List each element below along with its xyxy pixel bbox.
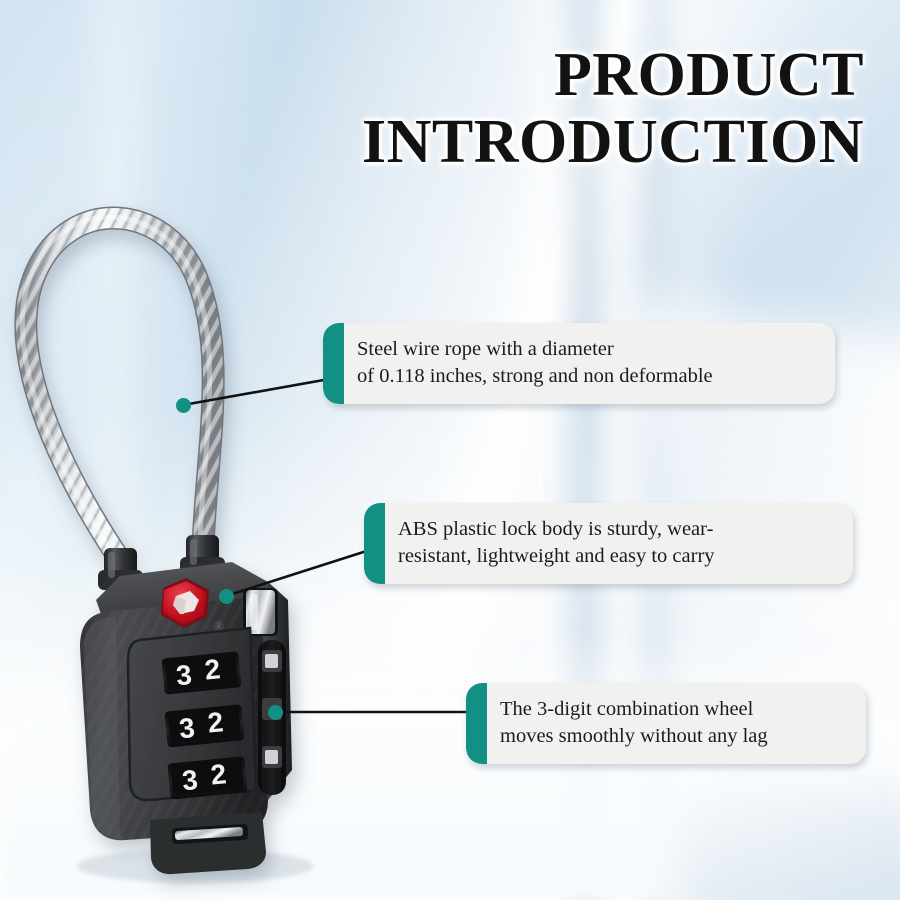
callout-combination-wheel: The 3-digit combination wheel moves smoo… — [466, 683, 866, 764]
callout-accent-tab — [323, 323, 344, 404]
callout-accent-tab — [364, 503, 385, 584]
marker-dot-steel-rope[interactable] — [176, 398, 191, 413]
title-line-1: PRODUCT — [362, 44, 864, 107]
page-title: PRODUCT INTRODUCTION — [362, 44, 864, 174]
callout-accent-tab — [466, 683, 487, 764]
callout-text-2: ABS plastic lock body is sturdy, wear- r… — [385, 503, 731, 584]
background-corner-shade — [680, 790, 900, 900]
callout-text-3: The 3-digit combination wheel moves smoo… — [487, 683, 784, 764]
marker-dot-combination-wheel[interactable] — [268, 705, 283, 720]
callout-lock-body: ABS plastic lock body is sturdy, wear- r… — [364, 503, 853, 584]
title-line-2: INTRODUCTION — [362, 111, 864, 174]
callout-steel-wire-rope: Steel wire rope with a diameter of 0.118… — [323, 323, 835, 404]
product-infographic-poster: PRODUCT INTRODUCTION — [0, 0, 900, 900]
callout-text-1: Steel wire rope with a diameter of 0.118… — [344, 323, 729, 404]
marker-dot-lock-body[interactable] — [219, 589, 234, 604]
